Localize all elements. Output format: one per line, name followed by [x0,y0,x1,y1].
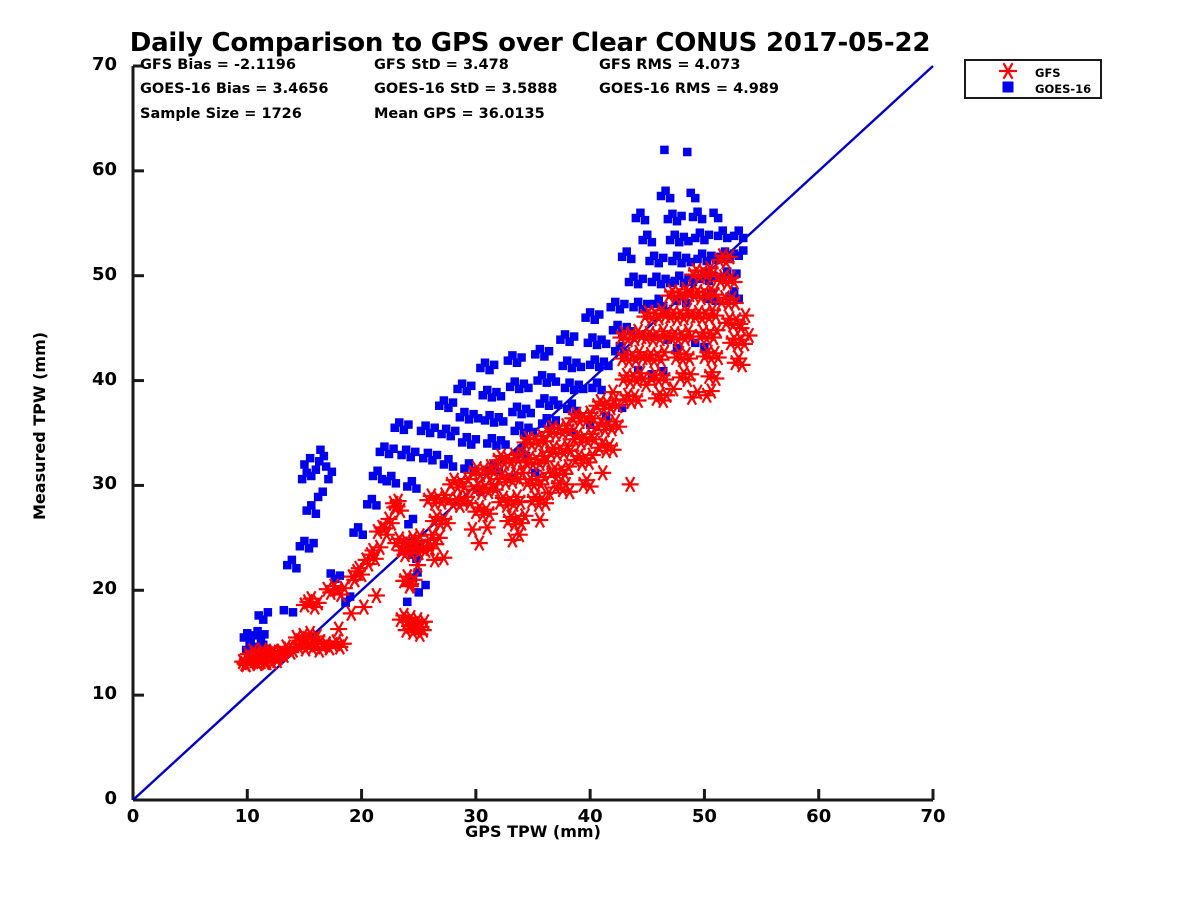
plot-canvas [0,0,1200,900]
stat-sample-size: Sample Size = 1726 [140,106,302,122]
stat-gfs-bias: GFS Bias = -2.1196 [140,57,296,73]
y-tick-label: 50 [63,264,117,285]
stat-goes-std: GOES-16 StD = 3.5888 [374,81,557,97]
stat-gfs-std: GFS StD = 3.478 [374,57,509,73]
y-tick-label: 20 [63,578,117,599]
y-tick-label: 30 [63,473,117,494]
stat-gfs-rms: GFS RMS = 4.073 [599,57,740,73]
y-axis-label: Measured TPW (mm) [30,332,49,520]
y-tick-label: 40 [63,369,117,390]
stat-goes-bias: GOES-16 Bias = 3.4656 [140,81,328,97]
page-title: Daily Comparison to GPS over Clear CONUS… [0,28,1060,58]
y-tick-label: 70 [63,54,117,75]
chart-figure: Daily Comparison to GPS over Clear CONUS… [0,0,1200,900]
y-tick-label: 10 [63,683,117,704]
legend-marker-swatches [964,59,1102,99]
stat-mean-gps: Mean GPS = 36.0135 [374,106,545,122]
stat-goes-rms: GOES-16 RMS = 4.989 [599,81,779,97]
x-axis-label: GPS TPW (mm) [0,822,1066,841]
y-tick-label: 60 [63,159,117,180]
